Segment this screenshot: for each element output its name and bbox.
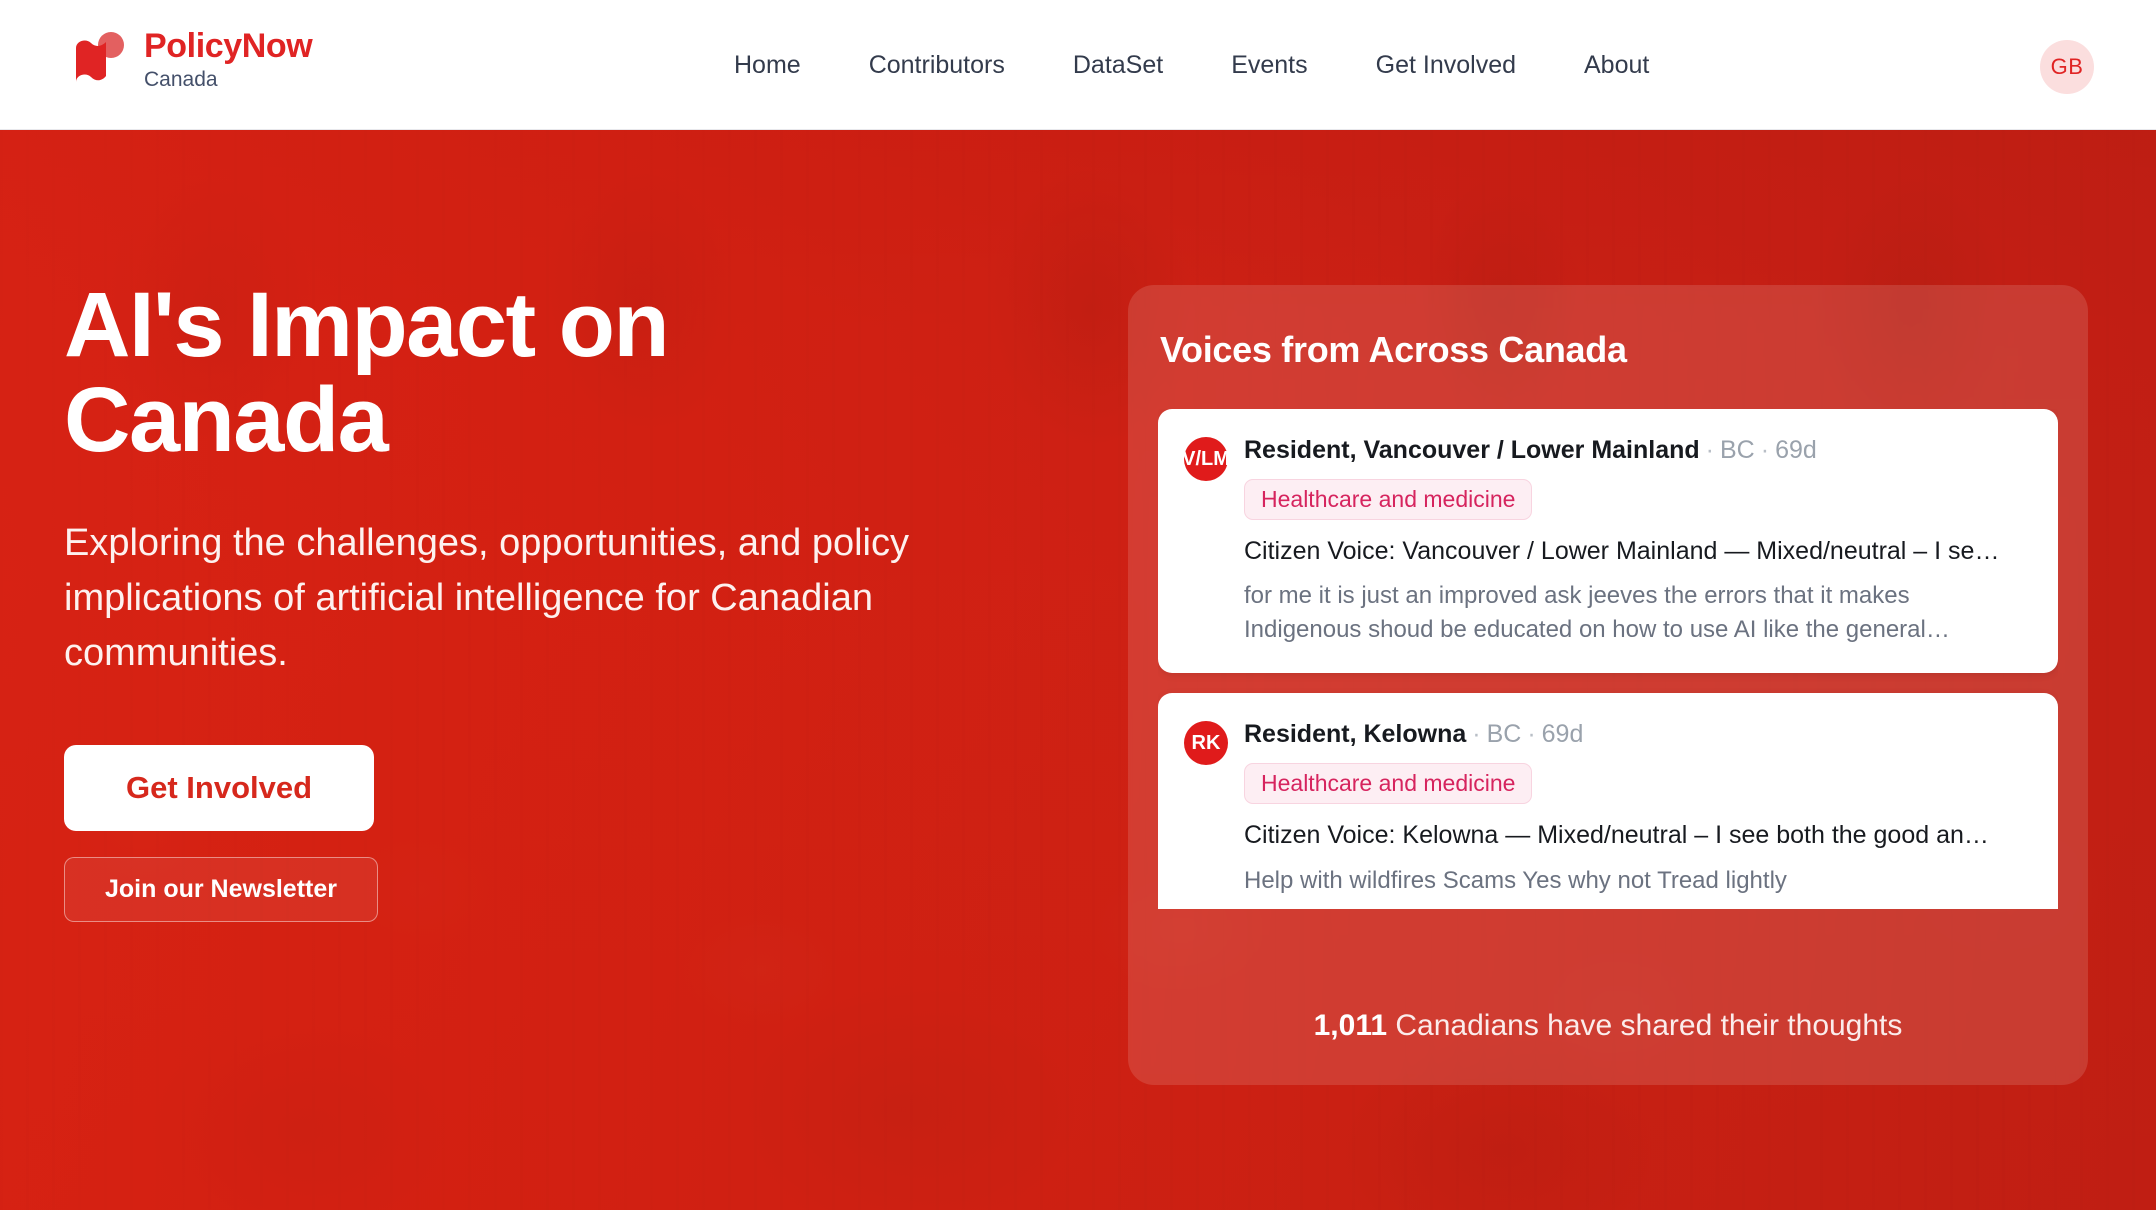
hero-subtitle: Exploring the challenges, opportunities,…	[64, 516, 1004, 681]
voices-footer: 1,011 Canadians have shared their though…	[1128, 1009, 2088, 1043]
hero-copy: AI's Impact on Canada Exploring the chal…	[64, 278, 1064, 922]
main-nav: Home Contributors DataSet Events Get Inv…	[700, 0, 1683, 130]
page-title: AI's Impact on Canada	[64, 278, 1064, 468]
brand-logo[interactable]: PolicyNow Canada	[64, 26, 312, 92]
nav-item-dataset[interactable]: DataSet	[1039, 41, 1197, 90]
voice-headline: Citizen Voice: Kelowna — Mixed/neutral –…	[1244, 820, 2026, 851]
voice-age: 69d	[1775, 436, 1817, 464]
voices-count: 1,011	[1314, 1009, 1387, 1042]
voice-author: Resident, Kelowna	[1244, 720, 1466, 748]
list-item[interactable]: RK Resident, Kelowna·BC·69d Healthcare a…	[1158, 693, 2058, 909]
status-badge[interactable]: Healthcare and medicine	[1244, 763, 1532, 804]
voice-headline: Citizen Voice: Vancouver / Lower Mainlan…	[1244, 536, 2026, 567]
voice-author: Resident, Vancouver / Lower Mainland	[1244, 436, 1700, 464]
nav-item-about[interactable]: About	[1550, 41, 1683, 90]
list-item[interactable]: V/LM Resident, Vancouver / Lower Mainlan…	[1158, 409, 2058, 673]
nav-item-events[interactable]: Events	[1197, 41, 1341, 90]
voice-age: 69d	[1542, 720, 1584, 748]
voice-excerpt: for me it is just an improved ask jeeves…	[1244, 579, 2026, 647]
avatar: RK	[1184, 721, 1228, 765]
voice-meta: Resident, Kelowna·BC·69d	[1244, 719, 2026, 749]
site-header: PolicyNow Canada Home Contributors DataS…	[0, 0, 2156, 130]
voice-province: BC	[1720, 436, 1755, 464]
nav-item-contributors[interactable]: Contributors	[835, 41, 1039, 90]
avatar: V/LM	[1184, 437, 1228, 481]
brand-region: Canada	[144, 69, 312, 90]
voice-excerpt: Help with wildfires Scams Yes why not Tr…	[1244, 864, 2026, 898]
voice-meta: Resident, Vancouver / Lower Mainland·BC·…	[1244, 435, 2026, 465]
nav-item-get-involved[interactable]: Get Involved	[1342, 41, 1550, 90]
voices-panel: Voices from Across Canada V/LM Resident,…	[1128, 285, 2088, 1085]
voices-list[interactable]: V/LM Resident, Vancouver / Lower Mainlan…	[1158, 409, 2058, 909]
hero-section: AI's Impact on Canada Exploring the chal…	[0, 130, 2156, 1210]
voice-province: BC	[1487, 720, 1522, 748]
hero-actions: Get Involved Join our Newsletter	[64, 745, 1064, 922]
voices-panel-title: Voices from Across Canada	[1160, 329, 1627, 371]
voices-footer-text: Canadians have shared their thoughts	[1395, 1009, 1902, 1042]
map-flag-pin-icon	[64, 26, 130, 92]
status-badge[interactable]: Healthcare and medicine	[1244, 479, 1532, 520]
join-newsletter-button[interactable]: Join our Newsletter	[64, 857, 378, 922]
brand-name: PolicyNow	[144, 29, 312, 63]
get-involved-button[interactable]: Get Involved	[64, 745, 374, 831]
user-avatar[interactable]: GB	[2040, 40, 2094, 94]
nav-item-home[interactable]: Home	[700, 41, 835, 90]
